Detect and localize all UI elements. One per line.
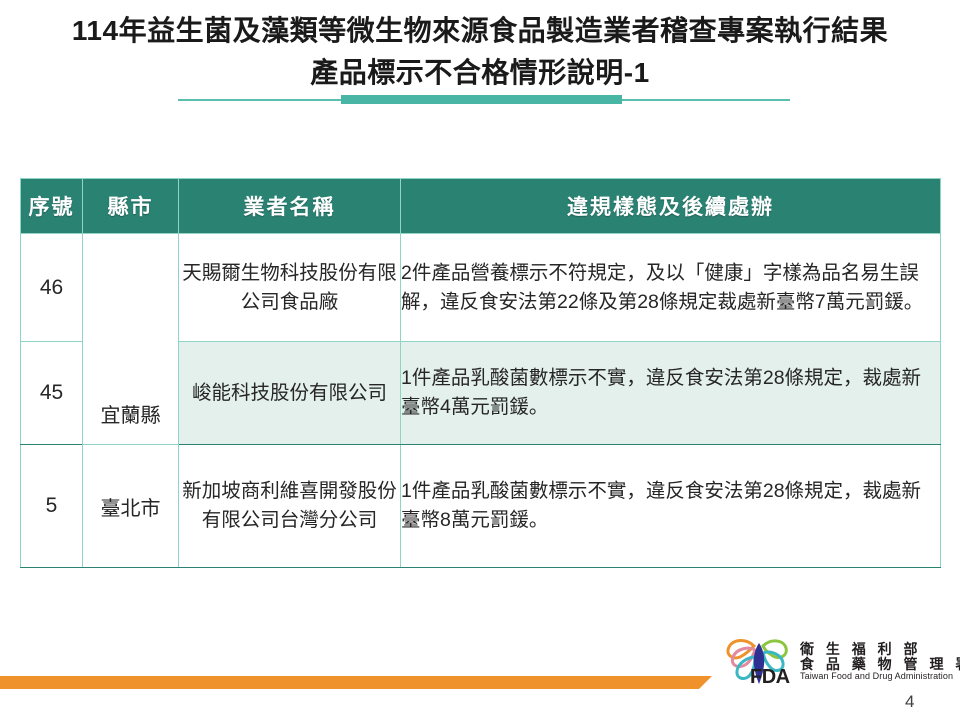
page-title: 114年益生菌及藻類等微生物來源食品製造業者稽查專案執行結果 產品標示不合格情形… xyxy=(0,10,960,94)
column-header-sequence: 序號 xyxy=(21,179,83,234)
table-row: 5 臺北市 新加坡商利維喜開發股份有限公司台灣分公司 1件產品乳酸菌數標示不實，… xyxy=(21,445,941,568)
cell-company: 天賜爾生物科技股份有限公司食品廠 xyxy=(179,234,401,342)
fda-butterfly-icon: FDA xyxy=(724,637,798,687)
cell-sequence: 5 xyxy=(21,445,83,568)
cell-violation: 2件產品營養標示不符規定，及以「健康」字樣為品名易生誤解，違反食安法第22條及第… xyxy=(401,234,941,342)
page-title-line-2: 產品標示不合格情形說明-1 xyxy=(0,52,960,94)
cell-sequence: 46 xyxy=(21,234,83,342)
table-row: 46 宜蘭縣 天賜爾生物科技股份有限公司食品廠 2件產品營養標示不符規定，及以「… xyxy=(21,234,941,342)
cell-company: 峻能科技股份有限公司 xyxy=(179,342,401,445)
agency-name-line-2: 食 品 藥 物 管 理 署 xyxy=(800,657,960,672)
agency-name-line-1: 衛 生 福 利 部 xyxy=(800,642,960,657)
fda-wordmark: 衛 生 福 利 部 食 品 藥 物 管 理 署 Taiwan Food and … xyxy=(800,642,960,682)
agency-name-english: Taiwan Food and Drug Administration xyxy=(800,672,960,681)
cell-company: 新加坡商利維喜開發股份有限公司台灣分公司 xyxy=(179,445,401,568)
table-header-row: 序號 縣市 業者名稱 違規樣態及後續處辦 xyxy=(21,179,941,234)
cell-sequence: 45 xyxy=(21,342,83,445)
fda-abbreviation: FDA xyxy=(750,666,790,689)
title-underline-accent xyxy=(341,95,622,104)
cell-violation: 1件產品乳酸菌數標示不實，違反食安法第28條規定，裁處新臺幣8萬元罰鍰。 xyxy=(401,445,941,568)
violation-table: 序號 縣市 業者名稱 違規樣態及後續處辦 46 宜蘭縣 天賜爾生物科技股份有限公… xyxy=(20,178,941,568)
footer-accent-bar xyxy=(0,676,712,689)
cell-city: 宜蘭縣 xyxy=(83,234,179,445)
column-header-violation: 違規樣態及後續處辦 xyxy=(401,179,941,234)
page-title-line-1: 114年益生菌及藻類等微生物來源食品製造業者稽查專案執行結果 xyxy=(0,10,960,52)
page-number: 4 xyxy=(905,692,914,712)
column-header-city: 縣市 xyxy=(83,179,179,234)
fda-logo: FDA 衛 生 福 利 部 食 品 藥 物 管 理 署 Taiwan Food … xyxy=(724,636,936,688)
cell-violation: 1件產品乳酸菌數標示不實，違反食安法第28條規定，裁處新臺幣4萬元罰鍰。 xyxy=(401,342,941,445)
cell-city: 臺北市 xyxy=(83,445,179,568)
column-header-company: 業者名稱 xyxy=(179,179,401,234)
